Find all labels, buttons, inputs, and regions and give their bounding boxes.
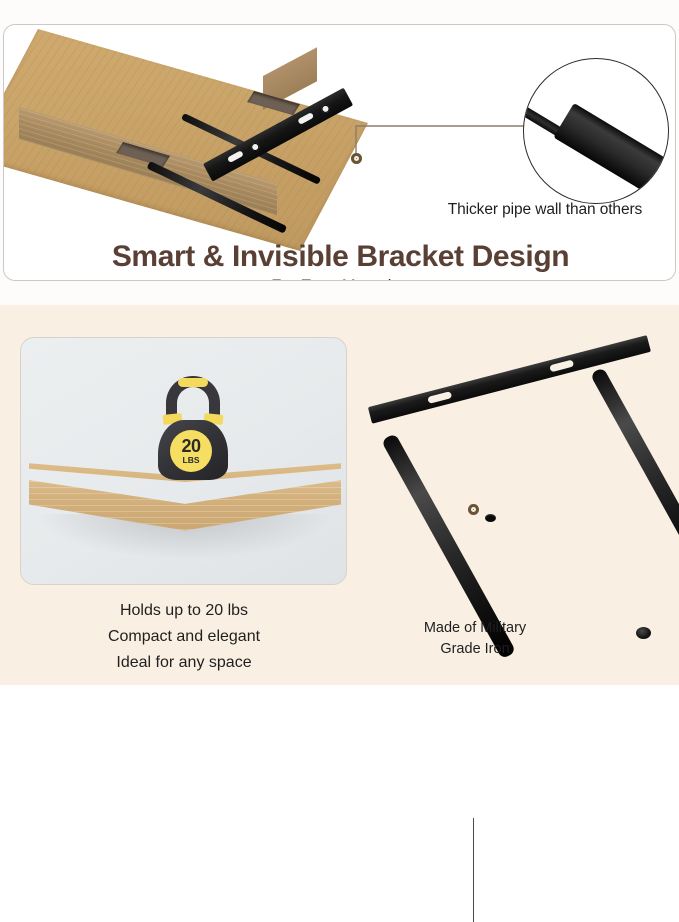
list-item: Holds up to 20 lbs — [14, 598, 354, 624]
bracket-slot-1 — [227, 150, 244, 163]
bracket-design-panel: Thicker pipe wall than others Smart & In… — [3, 24, 676, 281]
bracket-pipe-endcap — [636, 627, 651, 639]
kettlebell-grip — [178, 378, 208, 387]
iron-callout-leader — [473, 810, 475, 922]
military-iron-caption: Made of Military Grade Iron — [375, 618, 575, 660]
military-grade-bracket-icon — [360, 305, 679, 645]
bracket-slot-left — [427, 391, 452, 404]
kettlebell-body: 20 LBS — [158, 420, 228, 480]
callout-dot-icon — [351, 153, 362, 164]
page-title: Smart & Invisible Bracket Design — [4, 240, 676, 274]
leader-line-svg — [349, 120, 534, 165]
caption-line-2: Grade Iron — [375, 639, 575, 660]
callout-dot-icon — [468, 504, 479, 515]
bracket-pipe-right — [590, 367, 679, 575]
thicker-pipe-caption: Thicker pipe wall than others — [419, 201, 671, 219]
list-item: Compact and elegant — [14, 624, 354, 650]
infographic-page: Thicker pipe wall than others Smart & In… — [0, 0, 679, 685]
magnifier-circle-icon — [523, 58, 669, 204]
bracket-hole-1 — [250, 142, 261, 153]
feature-bullet-list: Holds up to 20 lbs Compact and elegant I… — [14, 598, 354, 676]
page-subtitle: For Easy Mounting — [4, 277, 676, 281]
leader-line-vertical — [473, 818, 474, 922]
bracket-slot-right — [549, 360, 574, 373]
bracket-hole-2 — [320, 103, 331, 114]
weight-value: 20 — [181, 437, 200, 455]
list-item: Ideal for any space — [14, 650, 354, 676]
magnified-pipe-wall — [553, 103, 669, 204]
weight-badge: 20 LBS — [170, 430, 212, 472]
weight-unit: LBS — [183, 456, 200, 465]
features-panel: 20 LBS Holds up to 20 lbs Compact and el… — [0, 305, 679, 685]
bracket-slot-2 — [297, 112, 314, 125]
caption-line-1: Made of Military — [375, 618, 575, 639]
shelf-photo-card: 20 LBS — [20, 337, 347, 585]
top-panel-stage: Thicker pipe wall than others Smart & In… — [4, 25, 675, 280]
callout-leader-line — [349, 120, 534, 165]
bracket-pipe-hole — [485, 514, 496, 522]
kettlebell-icon: 20 LBS — [152, 376, 234, 480]
